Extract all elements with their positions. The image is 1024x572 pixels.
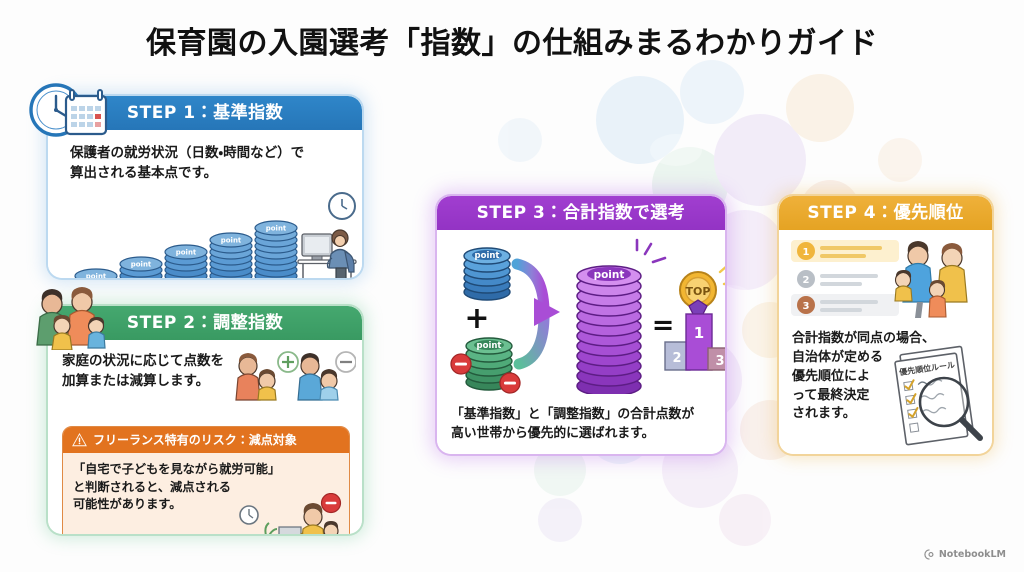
plus-badge [278,352,298,372]
svg-text:point: point [266,225,287,233]
work-from-home-illustration [233,493,345,534]
step-2-card: STEP 2：調整指数 家庭の状況に応じて点数を 加算または減算します。 [48,306,362,534]
svg-text:point: point [86,273,107,279]
freelance-risk-header-text: フリーランス特有のリスク：減点対象 [93,427,297,453]
calendar-icon [66,90,106,134]
adjustment-index-coin-stack: point [451,338,520,393]
svg-text:TOP: TOP [686,285,711,298]
svg-text:point: point [475,251,500,261]
step-3-body: point + point [437,230,725,454]
svg-text:1: 1 [694,324,704,342]
warning-triangle-icon [72,433,87,447]
svg-text:point: point [221,237,242,245]
step-1-corner-icons [26,80,112,146]
office-worker-at-desk-icon [298,230,356,278]
step-2-body: 家庭の状況に応じて点数を 加算または減算します。 [48,340,362,534]
svg-text:2: 2 [803,275,810,286]
plus-operator: + [464,301,489,336]
step-4-card: STEP 4：優先順位 1 2 3 [779,196,992,454]
family-group-icon [37,287,105,350]
svg-text:2: 2 [672,351,681,366]
step-4-header: STEP 4：優先順位 [779,196,992,230]
plant-icon [262,523,277,534]
priority-rule-document-icon: 優先順位ルール [886,340,990,452]
point-coin-stack-5: point [255,221,297,278]
point-coin-stack-3: point [165,245,207,278]
svg-text:1: 1 [803,247,810,258]
svg-text:point: point [176,249,197,257]
step-2-corner-icons [26,284,118,350]
svg-text:3: 3 [715,354,724,369]
svg-text:point: point [477,341,502,351]
minus-badge [451,354,471,374]
svg-text:point: point [131,261,152,269]
base-index-coin-stack: point [464,248,510,300]
step-1-card: STEP 1：基準指数 保護者の就労状況（日数・時間など）で 算出される基本点で… [48,96,362,278]
top-medal-icon: TOP [680,266,725,314]
svg-text:point: point [594,269,625,281]
point-coin-stack-1: point [75,269,117,278]
minus-badge [336,352,356,372]
freelance-risk-box: フリーランス特有のリスク：減点対象 「自宅で子どもを見ながら就労可能」 と判断さ… [62,426,350,534]
freelance-risk-header: フリーランス特有のリスク：減点対象 [63,427,349,453]
family-of-four-icon [895,241,967,318]
freelance-risk-body: 「自宅で子どもを見ながら就労可能」 と判断されると、減点される 可能性があります… [63,453,349,534]
step-1-body: 保護者の就労状況（日数・時間など）で 算出される基本点です。 point [48,130,362,278]
merge-arrow-icon [517,264,560,364]
step-3-body-text: 「基準指数」と「調整指数」の合計点数が 高い世帯から優先的に選ばれます。 [451,406,694,443]
equals-operator: = [652,310,675,341]
clock-icon [240,506,258,524]
step-1-illustration: point point [48,192,362,278]
svg-text:3: 3 [803,301,810,312]
step-3-illustration: point + point [437,236,725,394]
family-pair-minus-icon [298,353,338,400]
minus-badge [322,494,341,513]
step-1-body-text: 保護者の就労状況（日数・時間など）で 算出される基本点です。 [70,144,304,183]
wall-clock-icon [329,193,355,219]
notebooklm-logo-icon [924,549,935,560]
child-figure [323,521,339,534]
step-2-illustration [226,348,356,410]
point-coin-stack-4: point [210,233,252,278]
step-4-ranking-illustration: 1 2 3 [779,236,992,322]
minus-badge [500,373,520,393]
watermark-label: NotebookLM [939,549,1006,560]
step-2-body-text: 家庭の状況に応じて点数を 加算または減算します。 [62,352,224,391]
infographic-canvas: 保育園の入園選考「指数」の仕組みまるわかりガイド STEP 1：基準指数 保護者… [0,0,1024,572]
step-3-header: STEP 3：合計指数で選考 [437,196,725,230]
point-coin-stack-2: point [120,257,162,278]
page-title: 保育園の入園選考「指数」の仕組みまるわかりガイド [0,18,1024,62]
step-3-card: STEP 3：合計指数で選考 point + [437,196,725,454]
step-4-body: 1 2 3 [779,230,992,454]
notebooklm-watermark: NotebookLM [924,549,1006,560]
family-pair-plus-icon [236,353,276,400]
